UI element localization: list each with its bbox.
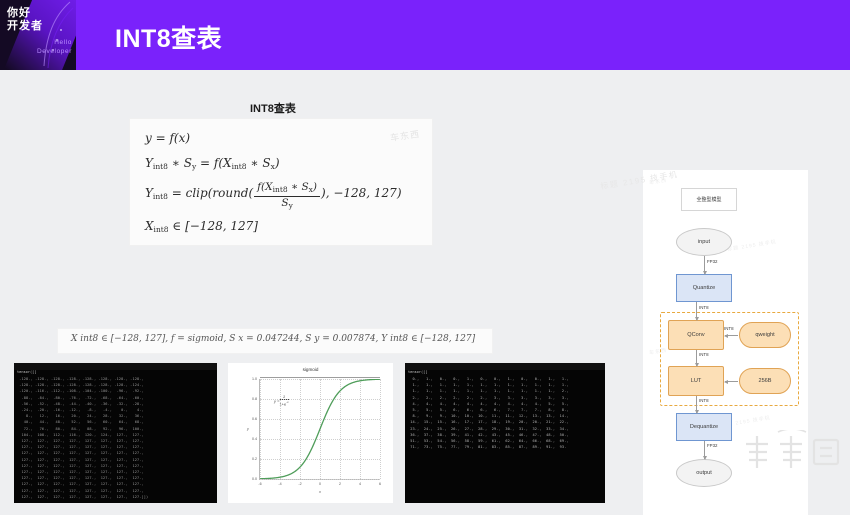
slide-header: 你好 开发者 Hello Developer INT8查表: [0, 0, 850, 70]
logo-en-line1: Hello: [30, 38, 72, 47]
chart-ylabel: y: [247, 427, 249, 431]
formula-fraction: f(Xint8 ∗ Sx)Sy: [254, 181, 320, 212]
terminal-right: tensor([[ 0., 1., 0., 0., 1., 0., 0., 1.…: [405, 363, 605, 503]
chart-xtick-label: -2: [298, 482, 301, 486]
chart-ytick-label: 0.4: [252, 437, 257, 441]
chart-ytick-label: 1.0: [252, 377, 257, 381]
chart-xtick-label: 6: [379, 482, 381, 486]
terminal-right-output: 0., 1., 0., 0., 1., 0., 0., 1., 0., 0., …: [408, 376, 603, 450]
f3-a: Y: [145, 186, 153, 200]
f3-b: = clip(round(: [168, 186, 253, 200]
formula-line-3: Yint8 = clip(round(f(Xint8 ∗ Sx)Sy), −12…: [145, 181, 402, 212]
flow-node-model-title[interactable]: 全整型模型: [681, 188, 737, 211]
chart-ytick-label: 0.8: [252, 397, 257, 401]
flow-edge-label-fp32-out: FP32: [707, 443, 718, 448]
sigmoid-curve: [260, 379, 380, 479]
fraction-numerator: f(Xint8 ∗ Sx): [254, 181, 320, 197]
slide-root: 你好 开发者 Hello Developer INT8查表 INT8查表 车东西…: [0, 0, 850, 478]
brand-watermark: [740, 430, 844, 474]
flow-arrow-input-quantize: [704, 256, 705, 274]
section-title: INT8查表: [250, 100, 296, 116]
sigmoid-curve-path: [260, 379, 380, 479]
f3-num-sub: int8: [273, 185, 288, 194]
chart-ytick-label: 0.6: [252, 417, 257, 421]
chart-gridline-v: [380, 379, 381, 479]
formula-line-2: Yint8 ∗ Sy = f(Xint8 ∗ Sx): [145, 156, 280, 171]
flow-node-256b[interactable]: 256B: [739, 368, 791, 394]
f3-c: ), −128, 127): [321, 186, 401, 200]
flow-arrow-qweight-qconv: [725, 335, 738, 336]
terminal-right-titlebar: [405, 363, 605, 370]
formula-card: 车东西 y = f(x) Yint8 ∗ Sy = f(Xint8 ∗ Sx) …: [129, 118, 433, 246]
slide-content: INT8查表 车东西 y = f(x) Yint8 ∗ Sy = f(Xint8…: [0, 70, 850, 478]
f3-a-sub: int8: [153, 192, 168, 201]
f2-b: ∗ S: [168, 156, 192, 170]
terminal-left-titlebar: [14, 363, 217, 370]
brand-logo-block: 你好 开发者 Hello Developer: [0, 0, 76, 70]
formula-line-1: y = f(x): [145, 131, 190, 145]
chart-xtick-label: -6: [258, 482, 261, 486]
chart-gridline-h: [260, 479, 380, 480]
flow-arrow-lut-dequantize: [696, 396, 697, 413]
chart-ytick-label: 0.2: [252, 457, 257, 461]
terminal-left-output: -128., -128., -128., -128., -128., -128.…: [17, 376, 215, 500]
logo-chinese-text: 你好 开发者: [7, 7, 43, 33]
flow-node-dequantize[interactable]: Dequantize: [676, 413, 732, 441]
fraction-denominator: Sy: [254, 197, 320, 212]
flow-arrow-dequantize-output: [704, 441, 705, 459]
flow-edge-label-int8-d: INT8: [699, 398, 709, 403]
f3-num-b: ∗ S: [288, 181, 309, 193]
chart-xtick-label: -4: [278, 482, 281, 486]
f3-num-a: f(X: [257, 181, 272, 193]
flow-node-input[interactable]: input: [676, 228, 732, 256]
f2-a: Y: [145, 156, 153, 170]
parameter-text: X int8 ∈ [−128, 127], f = sigmoid, S x =…: [71, 334, 475, 344]
f4-a-sub: int8: [154, 225, 169, 234]
terminal-left: tensor([[ -128., -128., -128., -128., -1…: [14, 363, 217, 503]
flow-node-quantize[interactable]: Quantize: [676, 274, 732, 302]
f2-d: ∗ S: [247, 156, 271, 170]
flow-node-output[interactable]: output: [676, 459, 732, 487]
flow-watermark-2: 标题 2195 技手机: [727, 238, 777, 253]
chart-xtick-label: 0: [319, 482, 321, 486]
formula-watermark: 车东西: [389, 127, 421, 144]
flow-node-qconv[interactable]: QConv: [668, 320, 724, 350]
terminal-right-prompt: tensor([[: [408, 370, 427, 374]
formula-line-4: Xint8 ∈ [−128, 127]: [145, 219, 258, 234]
flow-arrow-qconv-lut: [696, 350, 697, 366]
flow-edge-label-int8-c: INT8: [699, 352, 709, 357]
f3-den: S: [281, 197, 288, 209]
chart-xlabel: x: [319, 490, 321, 494]
chart-xtick-label: 4: [359, 482, 361, 486]
f2-a-sub: int8: [153, 162, 168, 171]
f4-a: X: [145, 219, 154, 233]
f3-den-sub: y: [289, 201, 293, 210]
f2-e: ): [275, 156, 280, 170]
f2-c: = f(X: [196, 156, 231, 170]
chart-title: sigmoid: [228, 367, 393, 372]
logo-english-text: Hello Developer: [30, 38, 72, 56]
flow-arrow-quantize-qconv: [696, 302, 697, 320]
chart-plot-area: y =11+e-x 0.00.20.40.60.81.0 -6-4-20246 …: [259, 379, 380, 480]
sigmoid-chart-card: sigmoid y =11+e-x 0.00.20.40.60.81.0 -6-…: [228, 363, 393, 503]
flow-edge-label-int8-a: INT8: [699, 305, 709, 310]
flow-arrow-256b-lut: [725, 381, 738, 382]
flow-edge-label-int8-b: INT8: [724, 326, 734, 331]
logo-en-line2: Developer: [30, 47, 72, 56]
parameter-strip: X int8 ∈ [−128, 127], f = sigmoid, S x =…: [57, 328, 493, 354]
flow-node-lut[interactable]: LUT: [668, 366, 724, 396]
f3-num-c: ): [313, 181, 317, 193]
logo-cn-line2: 开发者: [7, 20, 43, 33]
terminal-left-prompt: tensor([[: [17, 370, 36, 374]
logo-cn-line1: 你好: [7, 7, 43, 20]
page-title: INT8查表: [115, 19, 222, 55]
f2-c-sub: int8: [232, 162, 247, 171]
chart-xtick-label: 2: [339, 482, 341, 486]
flow-edge-label-fp32-in: FP32: [707, 259, 718, 264]
brand-watermark-icon: [740, 430, 844, 474]
f4-b: ∈ [−128, 127]: [169, 219, 258, 233]
flow-node-qweight[interactable]: qweight: [739, 322, 791, 348]
